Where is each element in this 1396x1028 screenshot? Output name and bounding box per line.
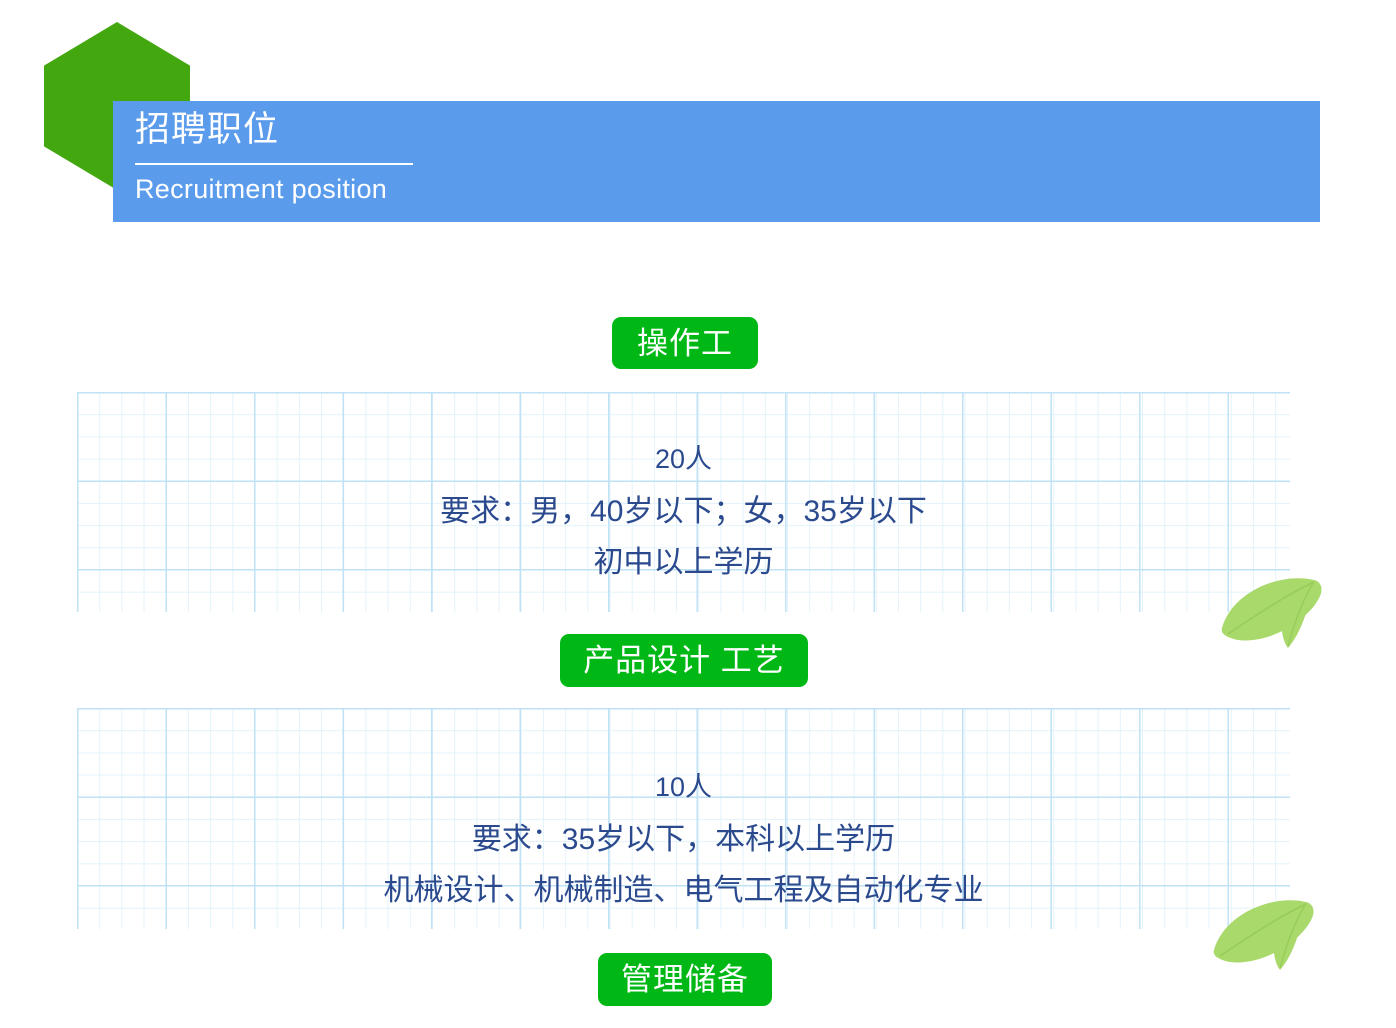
position-requirement-line-1: 要求：35岁以下，本科以上学历 — [77, 821, 1290, 859]
position-headcount: 10人 — [77, 770, 1290, 804]
slide-canvas: 招聘职位 Recruitment position 操作工 20人 要求：男，4… — [0, 0, 1396, 1028]
page-title-en: Recruitment position — [135, 169, 387, 209]
title-divider — [135, 163, 413, 165]
position-requirement-line-2: 初中以上学历 — [77, 544, 1290, 582]
position-detail-panel-operator: 20人 要求：男，40岁以下；女，35岁以下 初中以上学历 — [77, 392, 1290, 612]
page-title-cn: 招聘职位 — [135, 106, 279, 154]
position-requirement-line-2: 机械设计、机械制造、电气工程及自动化专业 — [77, 872, 1290, 910]
position-detail-panel-product-design: 10人 要求：35岁以下，本科以上学历 机械设计、机械制造、电气工程及自动化专业 — [77, 708, 1290, 929]
header-banner: 招聘职位 Recruitment position — [113, 101, 1320, 222]
position-badge-management-reserve[interactable]: 管理储备 — [598, 953, 772, 1006]
position-badge-product-design[interactable]: 产品设计 工艺 — [560, 634, 808, 687]
position-headcount: 20人 — [77, 442, 1290, 476]
position-badge-operator[interactable]: 操作工 — [612, 317, 758, 369]
position-requirement-line-1: 要求：男，40岁以下；女，35岁以下 — [77, 493, 1290, 531]
